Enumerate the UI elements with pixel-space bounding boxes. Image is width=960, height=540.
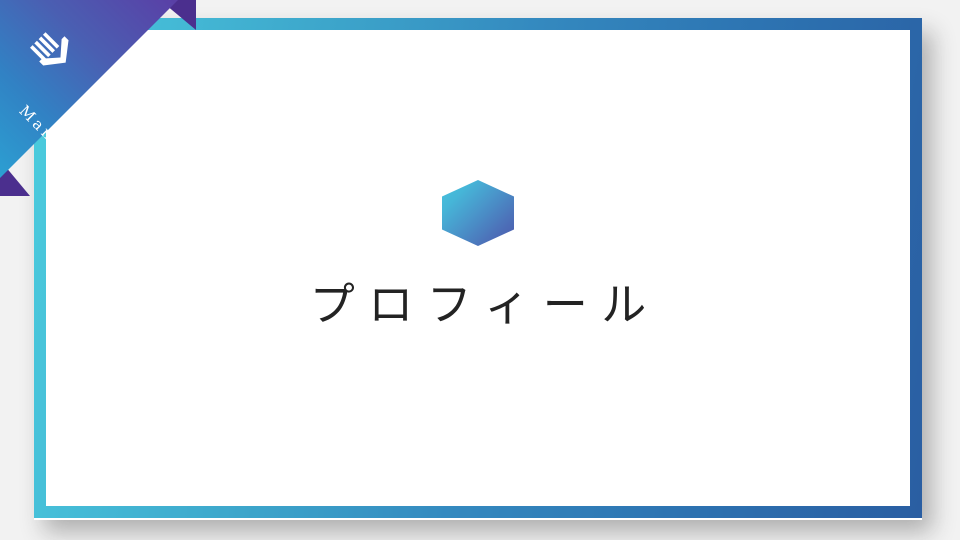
gradient-frame: プロフィール [34, 18, 922, 518]
hexagon-shape [442, 180, 514, 246]
hexagon-accent-mark [442, 180, 514, 246]
page-title: プロフィール [296, 280, 660, 330]
ribbon-fold-left [0, 160, 30, 196]
slide-canvas: プロフィール [46, 30, 910, 506]
slide-content: プロフィール [46, 30, 910, 506]
slide-root: プロフィール [0, 0, 960, 540]
